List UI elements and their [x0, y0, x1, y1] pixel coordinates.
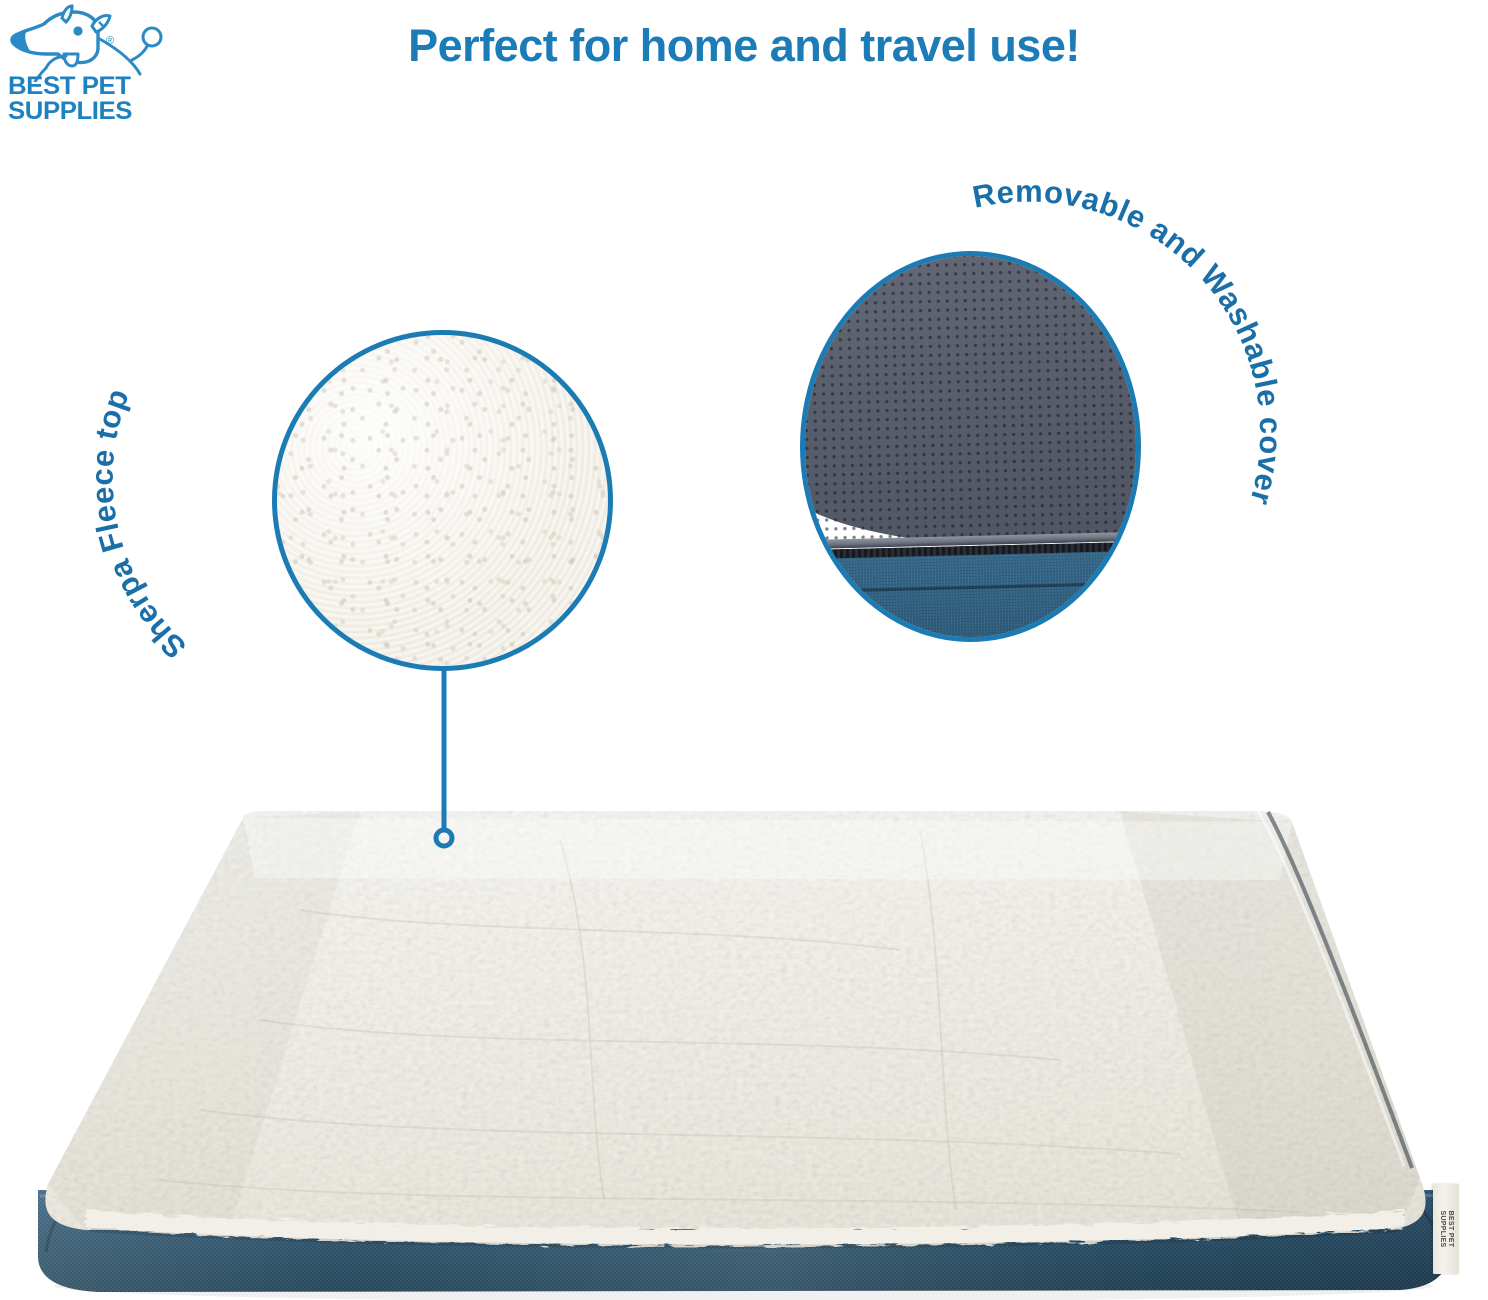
- brand-name: BEST PET SUPPLIES: [8, 74, 173, 124]
- dog-bed-image: [0, 760, 1488, 1300]
- callout-label-sherpa: Sherpa Fleece top: [85, 384, 193, 666]
- product-tag-text: BEST PET SUPPLIES: [1438, 1186, 1454, 1272]
- brand-name-line1: BEST PET: [8, 74, 173, 99]
- product-tag: BEST PET SUPPLIES: [1433, 1184, 1459, 1274]
- washable-cover-arc-label: Removable and Washable cover: [760, 170, 1300, 710]
- svg-text:Removable and Washable cover: Removable and Washable cover: [970, 174, 1289, 509]
- headline-text: Perfect for home and travel use!: [0, 20, 1488, 72]
- sherpa-fleece-arc-label: Sherpa Fleece top: [180, 250, 660, 730]
- product-tag-line1: BEST PET: [1446, 1186, 1454, 1272]
- brand-name-line2: SUPPLIES: [8, 99, 173, 124]
- product-tag-line2: SUPPLIES: [1438, 1186, 1446, 1272]
- callout-label-washable: Removable and Washable cover: [970, 174, 1289, 509]
- product-infographic: ® BEST PET SUPPLIES Perfect for home and…: [0, 0, 1488, 1300]
- svg-text:Sherpa Fleece top: Sherpa Fleece top: [85, 384, 193, 666]
